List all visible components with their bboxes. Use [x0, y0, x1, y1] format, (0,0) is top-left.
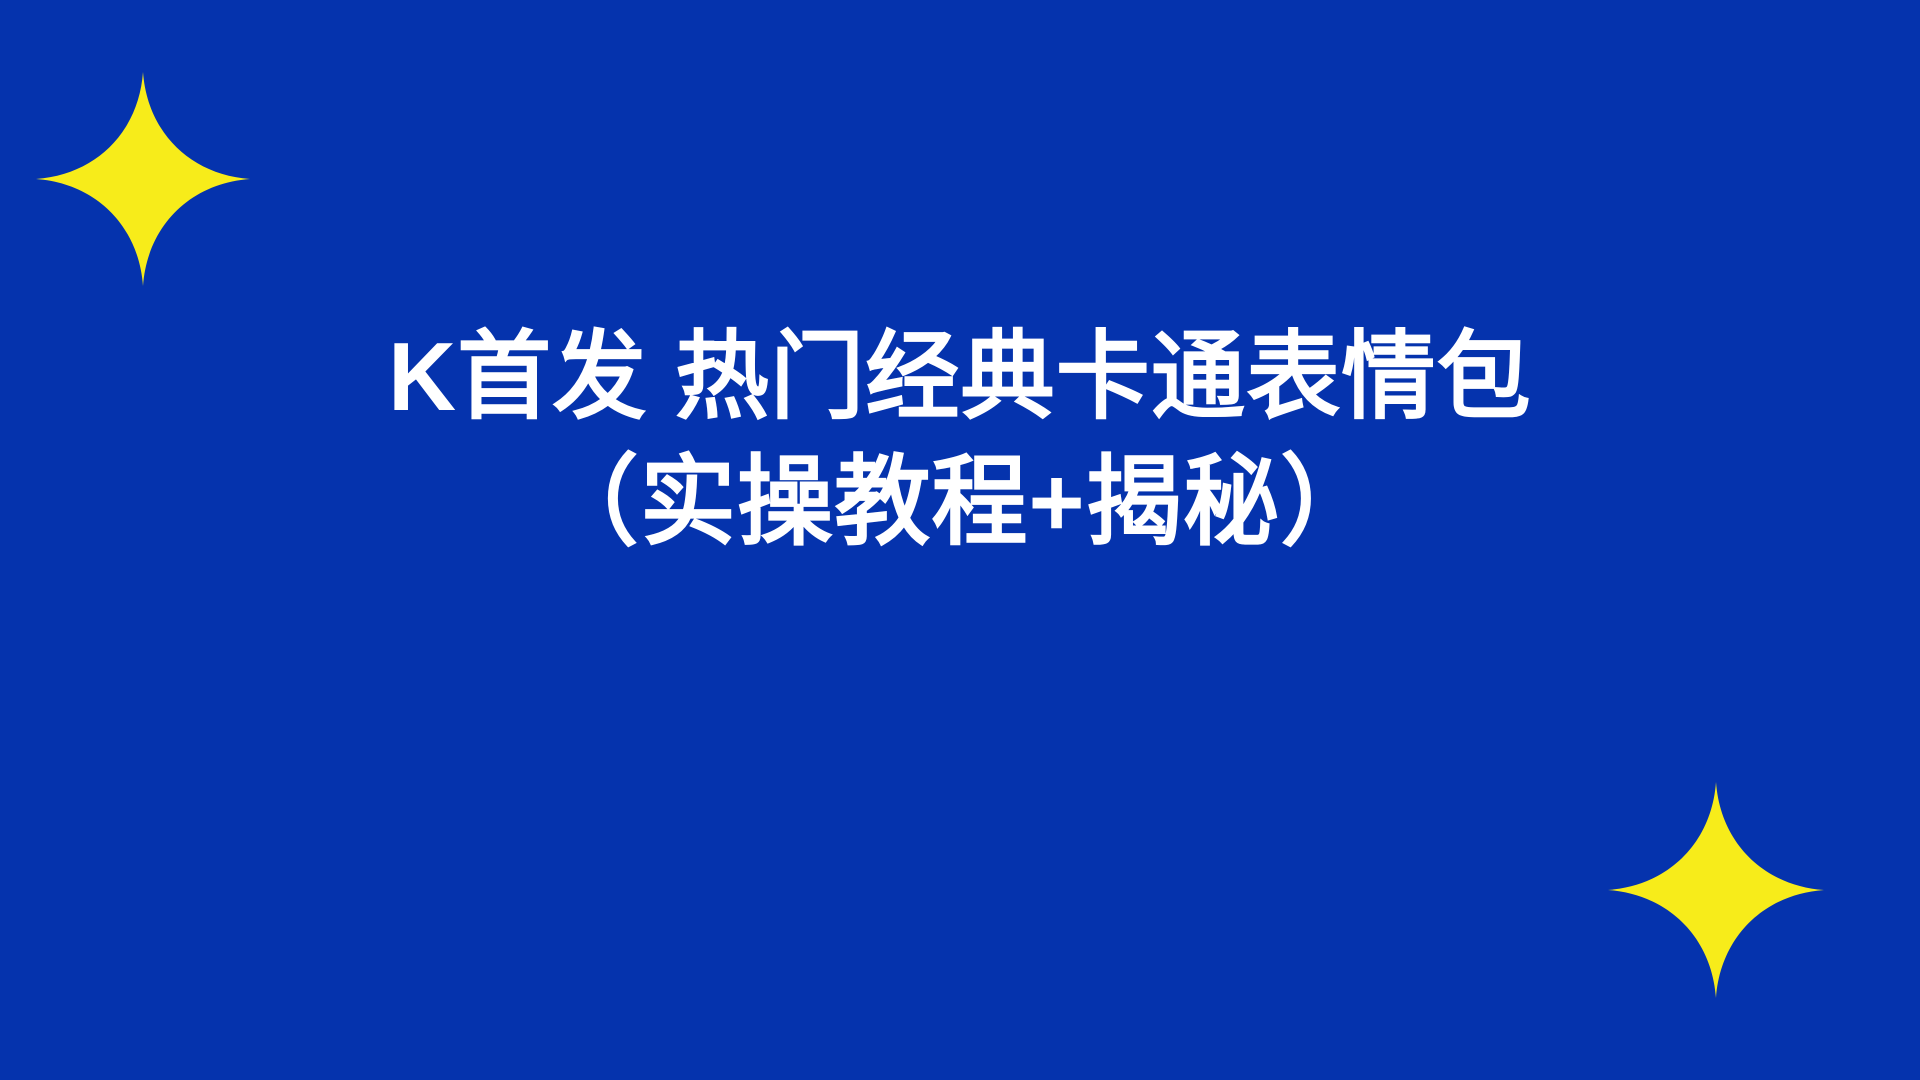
headline-line-2: （实操教程+揭秘）	[29, 440, 1891, 564]
sparkle-star-icon	[36, 66, 250, 292]
sparkle-star-icon	[1608, 776, 1824, 1004]
headline-block: K首发 热门经典卡通表情包 （实操教程+揭秘）	[0, 318, 1920, 564]
headline-line-1: K首发 热门经典卡通表情包	[29, 318, 1891, 436]
poster-canvas: K首发 热门经典卡通表情包 （实操教程+揭秘）	[0, 0, 1920, 1080]
